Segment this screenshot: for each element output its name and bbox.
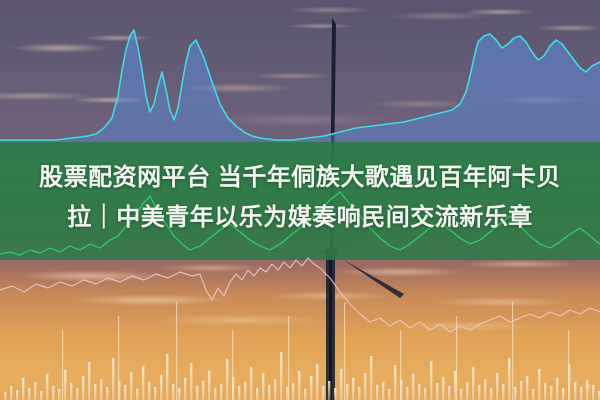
page-title: 股票配资网平台 当千年侗族大歌遇见百年阿卡贝 拉｜中美青年以乐为媒奏响民间交流新…: [0, 158, 600, 238]
banner-image: 股票配资网平台 当千年侗族大歌遇见百年阿卡贝 拉｜中美青年以乐为媒奏响民间交流新…: [0, 0, 600, 400]
headline-line-2: 拉｜中美青年以乐为媒奏响民间交流新乐章: [0, 198, 600, 238]
watermark: ◈: [585, 381, 592, 392]
headline-line-1: 股票配资网平台 当千年侗族大歌遇见百年阿卡贝: [0, 158, 600, 198]
